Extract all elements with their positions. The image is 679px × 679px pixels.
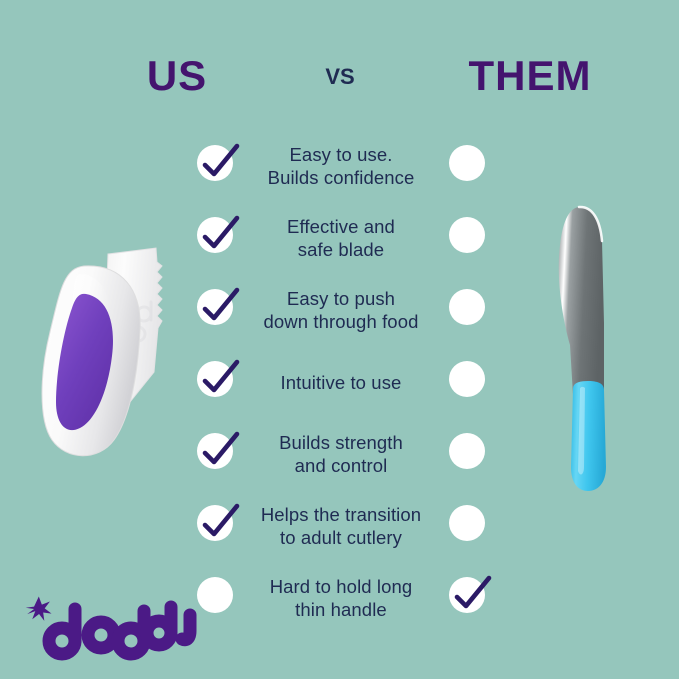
- row-label-text: Easy to push down through food: [264, 287, 419, 333]
- us-mark-5[interactable]: [197, 505, 239, 547]
- standard-knife-icon: [530, 195, 660, 500]
- row-label-text: Hard to hold long thin handle: [270, 575, 413, 621]
- header: US VS THEM: [0, 52, 679, 108]
- them-mark-0[interactable]: [449, 145, 491, 187]
- row-label: Effective and safe blade: [236, 202, 446, 274]
- row-label: Hard to hold long thin handle: [236, 562, 446, 634]
- them-mark-1[interactable]: [449, 217, 491, 259]
- comparison-row: Easy to use. Builds confidence: [0, 130, 679, 202]
- row-label: Helps the transition to adult cutlery: [236, 490, 446, 562]
- them-mark-5[interactable]: [449, 505, 491, 547]
- mark-circle: [449, 433, 485, 469]
- check-icon: [451, 573, 495, 617]
- row-label-text: Effective and safe blade: [287, 215, 395, 261]
- us-product-image: [34, 232, 214, 462]
- knife-blade: [559, 207, 604, 395]
- comparison-row: Helps the transition to adult cutlery: [0, 490, 679, 562]
- row-label: Easy to push down through food: [236, 274, 446, 346]
- comparison-infographic: US VS THEM Easy to use. Builds confidenc…: [0, 0, 679, 679]
- header-vs-label: VS: [280, 62, 400, 92]
- them-mark-6[interactable]: [449, 577, 491, 619]
- mark-circle: [449, 145, 485, 181]
- header-them-label: THEM: [440, 52, 620, 100]
- row-label-text: Easy to use. Builds confidence: [268, 143, 415, 189]
- row-label: Easy to use. Builds confidence: [236, 130, 446, 202]
- row-label-text: Builds strength and control: [279, 431, 403, 477]
- knife-handle: [571, 381, 606, 491]
- doddl-wordmark-icon: [14, 585, 214, 665]
- mark-circle: [449, 361, 485, 397]
- mark-circle: [449, 217, 485, 253]
- logo-star: [26, 597, 52, 621]
- them-mark-2[interactable]: [449, 289, 491, 331]
- header-us-label: US: [97, 52, 257, 100]
- them-mark-4[interactable]: [449, 433, 491, 475]
- them-product-image: [530, 195, 660, 500]
- row-label-text: Intuitive to use: [281, 371, 402, 394]
- row-label: Builds strength and control: [236, 418, 446, 490]
- doddl-knife-icon: [34, 232, 214, 462]
- us-mark-0[interactable]: [197, 145, 239, 187]
- mark-circle: [449, 505, 485, 541]
- logo-letters: [49, 607, 190, 654]
- doddl-logo: [14, 585, 214, 665]
- row-label: Intuitive to use: [236, 346, 446, 418]
- them-mark-3[interactable]: [449, 361, 491, 403]
- row-label-text: Helps the transition to adult cutlery: [261, 503, 421, 549]
- mark-circle: [449, 289, 485, 325]
